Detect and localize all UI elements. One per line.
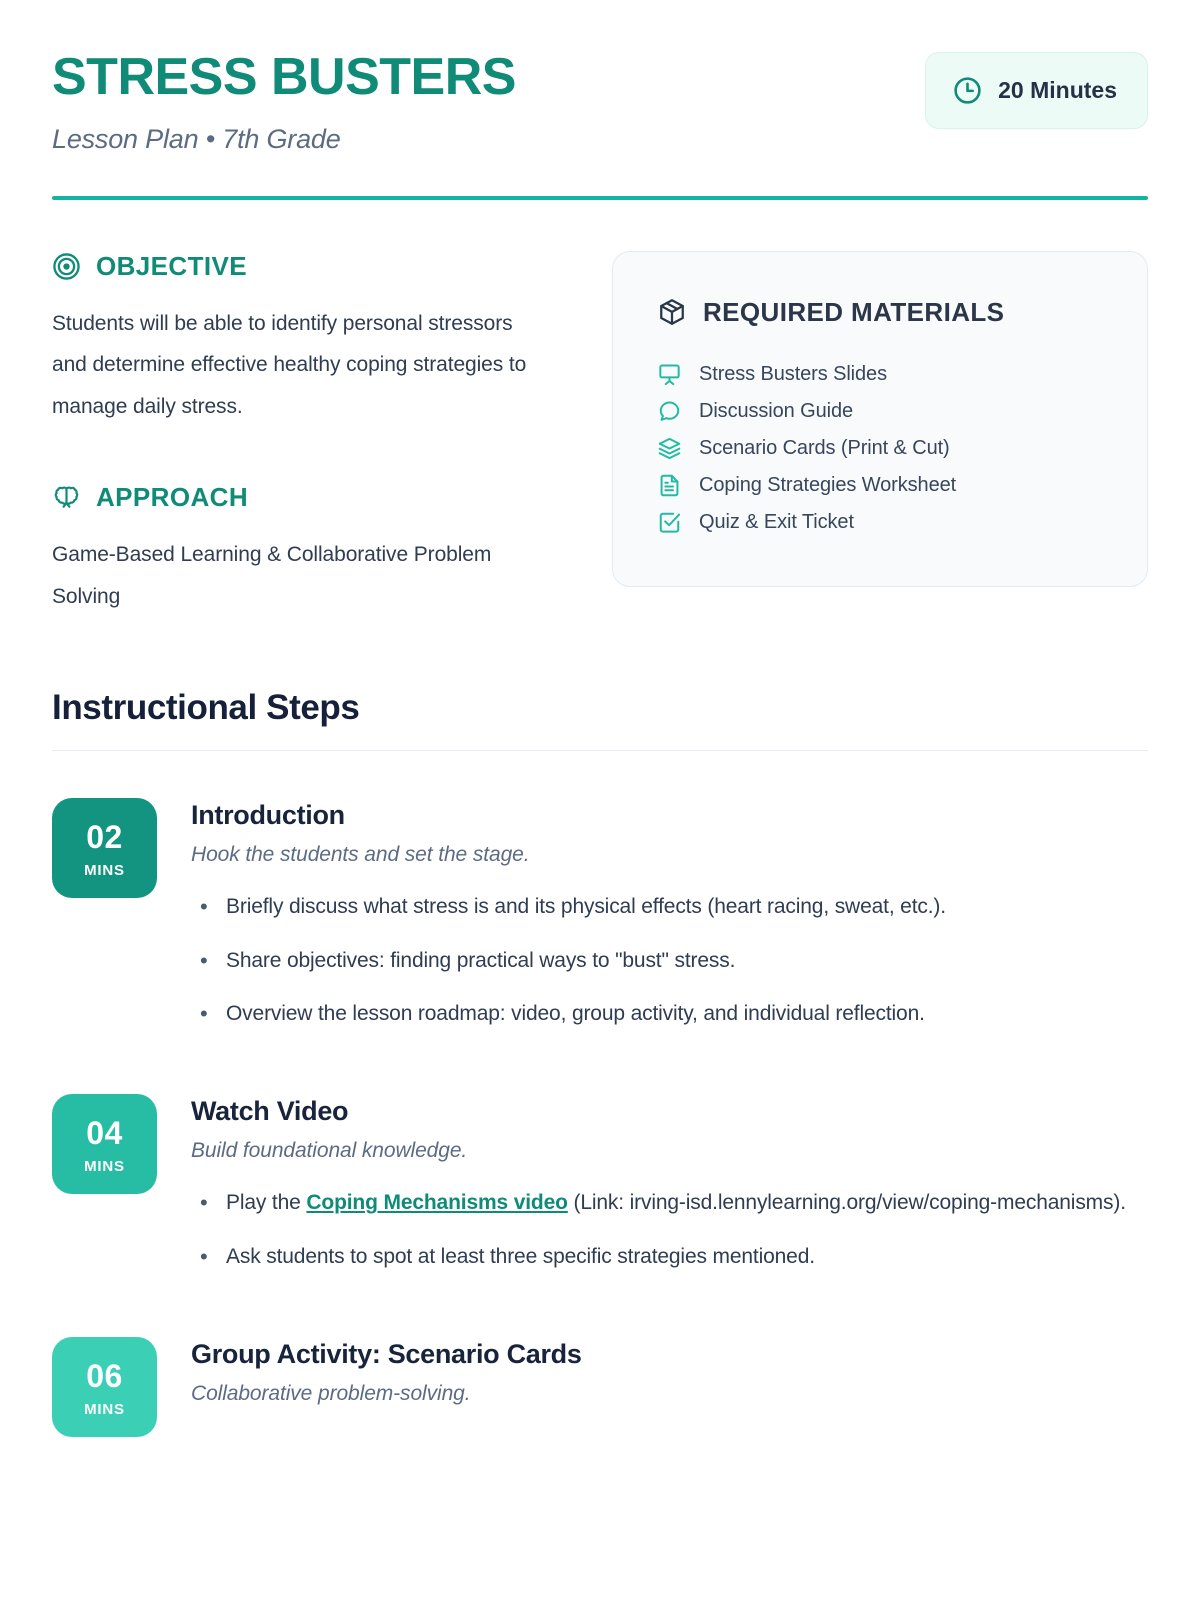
step-title: Watch Video xyxy=(191,1096,1148,1127)
step-minutes: 04 xyxy=(86,1117,123,1149)
step-duration-badge: 06 MINS xyxy=(52,1337,157,1437)
steps-divider xyxy=(52,750,1148,751)
document-header: STRESS BUSTERS Lesson Plan • 7th Grade 2… xyxy=(52,46,1148,155)
steps-section-title: Instructional Steps xyxy=(52,688,1148,728)
step-minutes: 06 xyxy=(86,1360,123,1392)
package-box-icon xyxy=(657,297,687,327)
approach-header: APPROACH xyxy=(52,482,552,513)
overview-left-column: OBJECTIVE Students will be able to ident… xyxy=(52,251,552,618)
objective-header: OBJECTIVE xyxy=(52,251,552,282)
step-bullet-list: Play the Coping Mechanisms video (Link: … xyxy=(191,1183,1148,1277)
materials-heading: REQUIRED MATERIALS xyxy=(703,297,1004,328)
step-title: Group Activity: Scenario Cards xyxy=(191,1339,1148,1370)
clock-icon xyxy=(952,75,983,106)
overview-right-column: REQUIRED MATERIALS Stress Busters Slides xyxy=(612,251,1148,618)
approach-heading: APPROACH xyxy=(96,482,248,513)
material-label: Scenario Cards (Print & Cut) xyxy=(699,437,950,460)
duration-label: 20 Minutes xyxy=(998,77,1117,104)
bullet-text-after: (Link: irving-isd.lennylearning.org/view… xyxy=(568,1191,1126,1214)
step-tagline: Collaborative problem-solving. xyxy=(191,1382,1148,1406)
brain-icon xyxy=(52,483,81,512)
list-item: Overview the lesson roadmap: video, grou… xyxy=(191,994,1148,1034)
step-minutes: 02 xyxy=(86,821,123,853)
material-item: Stress Busters Slides xyxy=(657,356,1107,393)
document-lines-icon xyxy=(657,473,682,498)
header-divider xyxy=(52,196,1148,200)
step-tagline: Hook the students and set the stage. xyxy=(191,843,1148,867)
page-subtitle: Lesson Plan • 7th Grade xyxy=(52,124,516,155)
title-block: STRESS BUSTERS Lesson Plan • 7th Grade xyxy=(52,46,516,155)
presentation-board-icon xyxy=(657,362,682,387)
list-item: Play the Coping Mechanisms video (Link: … xyxy=(191,1183,1148,1223)
page-title: STRESS BUSTERS xyxy=(52,50,516,105)
material-label: Stress Busters Slides xyxy=(699,363,887,386)
step-content: Introduction Hook the students and set t… xyxy=(191,798,1148,1047)
lesson-plan-page: STRESS BUSTERS Lesson Plan • 7th Grade 2… xyxy=(0,0,1200,1600)
objective-heading: OBJECTIVE xyxy=(96,251,247,282)
speech-bubble-icon xyxy=(657,399,682,424)
step-minutes-unit: MINS xyxy=(84,1401,125,1418)
overview-columns: OBJECTIVE Students will be able to ident… xyxy=(52,251,1148,618)
material-label: Quiz & Exit Ticket xyxy=(699,511,854,534)
required-materials-card: REQUIRED MATERIALS Stress Busters Slides xyxy=(612,251,1148,587)
step-row: 02 MINS Introduction Hook the students a… xyxy=(52,798,1148,1047)
step-content: Group Activity: Scenario Cards Collabora… xyxy=(191,1337,1148,1437)
duration-badge: 20 Minutes xyxy=(925,52,1148,129)
material-item: Coping Strategies Worksheet xyxy=(657,467,1107,504)
material-item: Discussion Guide xyxy=(657,393,1107,430)
checkbox-check-icon xyxy=(657,510,682,535)
list-item: Share objectives: finding practical ways… xyxy=(191,941,1148,981)
step-duration-badge: 04 MINS xyxy=(52,1094,157,1194)
step-title: Introduction xyxy=(191,800,1148,831)
material-item: Quiz & Exit Ticket xyxy=(657,504,1107,541)
step-minutes-unit: MINS xyxy=(84,862,125,879)
material-label: Discussion Guide xyxy=(699,400,853,423)
list-item: Briefly discuss what stress is and its p… xyxy=(191,887,1148,927)
material-label: Coping Strategies Worksheet xyxy=(699,474,956,497)
coping-mechanisms-video-link[interactable]: Coping Mechanisms video xyxy=(306,1191,567,1214)
step-content: Watch Video Build foundational knowledge… xyxy=(191,1094,1148,1290)
step-row: 04 MINS Watch Video Build foundational k… xyxy=(52,1094,1148,1290)
step-duration-badge: 02 MINS xyxy=(52,798,157,898)
bullet-text-before: Play the xyxy=(226,1191,306,1214)
step-row: 06 MINS Group Activity: Scenario Cards C… xyxy=(52,1337,1148,1437)
step-minutes-unit: MINS xyxy=(84,1158,125,1175)
materials-header: REQUIRED MATERIALS xyxy=(657,297,1107,328)
step-tagline: Build foundational knowledge. xyxy=(191,1139,1148,1163)
approach-body: Game-Based Learning & Collaborative Prob… xyxy=(52,534,552,617)
objective-body: Students will be able to identify person… xyxy=(52,303,552,428)
material-item: Scenario Cards (Print & Cut) xyxy=(657,430,1107,467)
list-item: Ask students to spot at least three spec… xyxy=(191,1237,1148,1277)
target-icon xyxy=(52,252,81,281)
layers-stack-icon xyxy=(657,436,682,461)
step-bullet-list: Briefly discuss what stress is and its p… xyxy=(191,887,1148,1034)
